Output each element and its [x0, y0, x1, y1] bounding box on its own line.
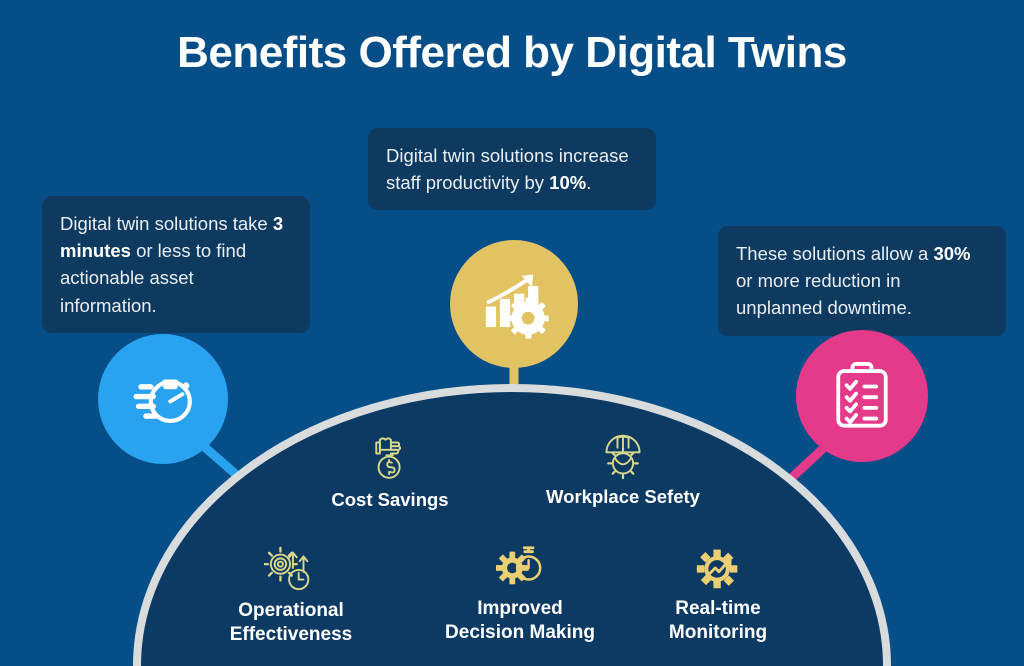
callout-right-highlight: 30%: [933, 243, 970, 264]
dome-item-improved-decision-making-label: ImprovedDecision Making: [445, 597, 595, 644]
callout-left: Digital twin solutions take 3 minutes or…: [42, 196, 310, 333]
gear-trend-arrow-icon: [695, 545, 741, 591]
dome-item-real-time-monitoring[interactable]: Real-timeMonitoring: [635, 545, 801, 644]
dome-item-workplace-safety-label: Workplace Sefety: [546, 486, 700, 509]
callout-right-text-post: or more reduction in unplanned downtime.: [736, 270, 912, 318]
gear-stopwatch-icon: [494, 543, 546, 591]
callout-right: These solutions allow a 30% or more redu…: [718, 226, 1006, 336]
callout-center-highlight: 10%: [549, 172, 586, 193]
callout-center-text-post: .: [586, 172, 591, 193]
gear-arrows-clock-icon: [264, 543, 318, 593]
bubble-left[interactable]: [98, 334, 228, 464]
speed-stopwatch-icon: [124, 360, 202, 438]
callout-center-text-pre: Digital twin solutions increase staff pr…: [386, 145, 629, 193]
dome-item-workplace-safety[interactable]: Workplace Sefety: [528, 432, 718, 509]
dome-item-operational-effectiveness-label: OperationalEffectiveness: [230, 599, 353, 646]
dome-item-real-time-monitoring-label: Real-timeMonitoring: [669, 597, 767, 644]
hard-hat-gear-icon: [600, 432, 646, 480]
callout-center: Digital twin solutions increase staff pr…: [368, 128, 656, 210]
dome-item-cost-savings[interactable]: Cost Savings: [300, 435, 480, 512]
callout-right-text-pre: These solutions allow a: [736, 243, 933, 264]
growth-chart-gear-icon: [473, 263, 555, 345]
clipboard-checklist-icon: [824, 358, 900, 434]
dome-item-cost-savings-label: Cost Savings: [331, 489, 448, 512]
callout-left-text-pre: Digital twin solutions take: [60, 213, 273, 234]
bubble-center[interactable]: [450, 240, 578, 368]
dome-item-operational-effectiveness[interactable]: OperationalEffectiveness: [200, 543, 382, 646]
infographic-canvas: Benefits Offered by Digital Twins Digita…: [0, 0, 1024, 666]
bubble-right[interactable]: [796, 330, 928, 462]
dome-item-improved-decision-making[interactable]: ImprovedDecision Making: [430, 543, 610, 644]
money-bag-hand-icon: [368, 435, 412, 483]
